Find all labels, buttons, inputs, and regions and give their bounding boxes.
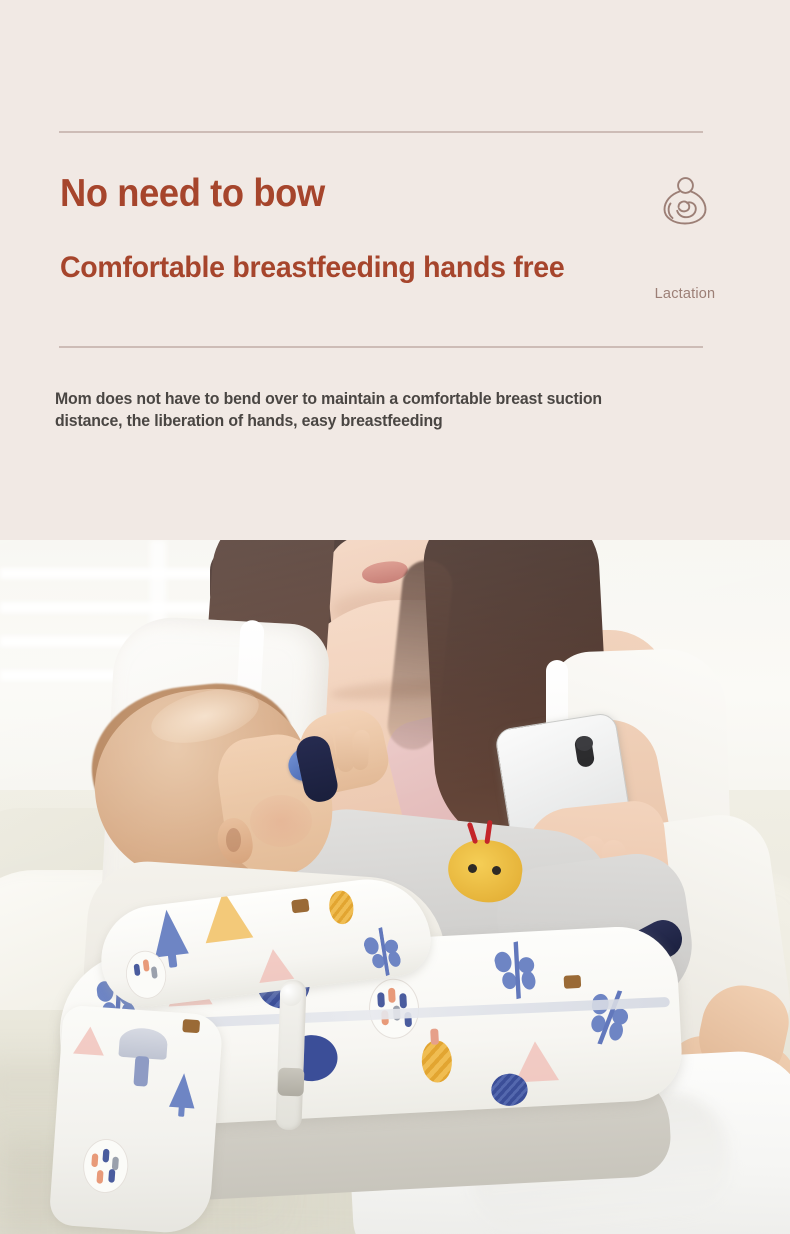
- lifestyle-photo: [0, 540, 790, 1234]
- baby-finger: [334, 725, 354, 772]
- pillow-motif-tag: [564, 975, 582, 989]
- body-copy: Mom does not have to bend over to mainta…: [55, 388, 698, 433]
- page-subheadline: Comfortable breastfeeding hands free: [60, 251, 564, 285]
- pillow-motif-fern: [360, 924, 408, 980]
- pillow-motif-pineapple: [327, 889, 355, 925]
- pillow-motif-oval: [490, 1073, 528, 1107]
- lactation-icon-label: Lactation: [630, 286, 740, 302]
- header-block: No need to bow Comfortable breastfeeding…: [0, 0, 790, 540]
- nursing-pillow-flap: [49, 1005, 224, 1234]
- pillow-motif-seed-pod: [81, 1137, 130, 1194]
- divider-bottom: [59, 346, 703, 348]
- breastfeeding-mother-icon: [657, 174, 713, 230]
- nursing-pillow-button: [280, 984, 302, 1006]
- giraffe-eye: [492, 866, 501, 875]
- pillow-motif-tag: [291, 898, 309, 913]
- pillow-motif-cone: [73, 1026, 106, 1056]
- baby-cheek: [250, 795, 312, 847]
- pillow-motif-cone: [255, 947, 294, 983]
- pillow-motif-mushroom-stem: [133, 1056, 149, 1087]
- page-headline: No need to bow: [60, 172, 325, 216]
- pillow-motif-pineapple: [421, 1040, 453, 1084]
- pillow-motif-tag: [182, 1019, 200, 1033]
- nursing-pillow-buckle: [278, 1068, 305, 1097]
- pillow-motif-fern: [491, 938, 543, 1002]
- body-copy-line-2: distance, the liberation of hands, easy …: [55, 410, 698, 432]
- baby-ear-inner: [226, 828, 241, 852]
- product-feature-page: No need to bow Comfortable breastfeeding…: [0, 0, 790, 1234]
- pillow-motif-pineapple-stem: [430, 1028, 439, 1044]
- pillow-motif-fern: [585, 986, 635, 1049]
- body-copy-line-1: Mom does not have to bend over to mainta…: [55, 388, 698, 410]
- divider-top: [59, 131, 703, 133]
- baby-finger: [352, 729, 371, 770]
- pillow-motif-mushroom: [118, 1027, 168, 1060]
- giraffe-eye: [468, 864, 477, 873]
